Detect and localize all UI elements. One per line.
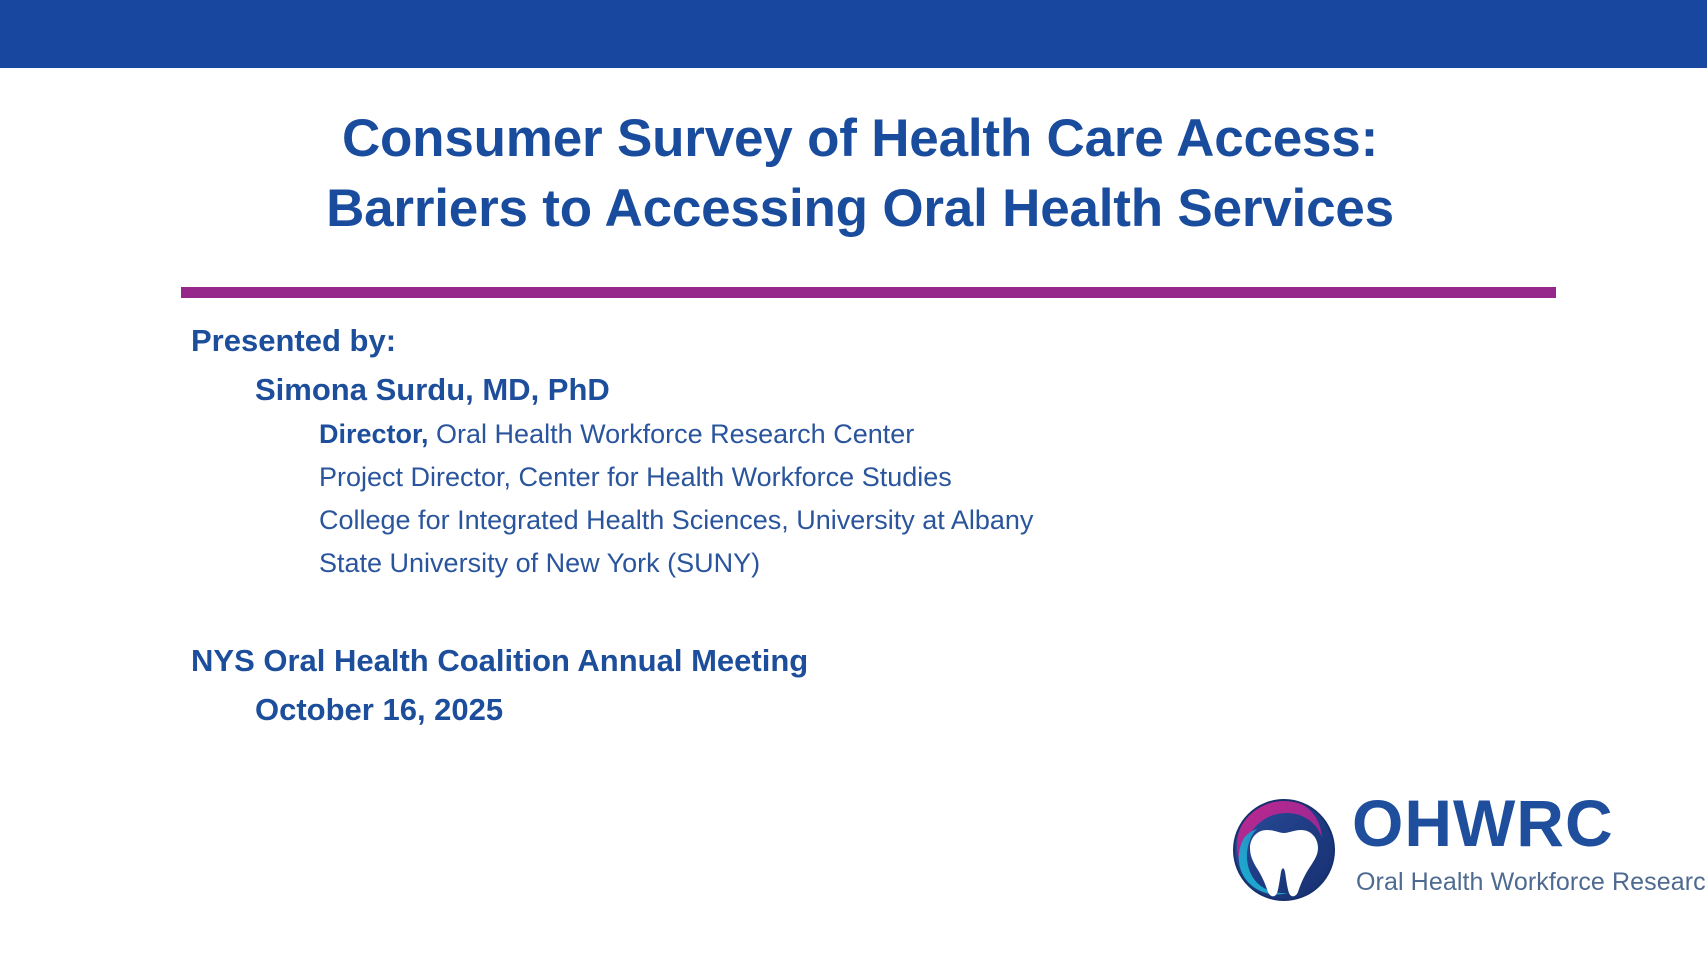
presented-by-label: Presented by: — [191, 325, 1391, 356]
tooth-in-circle-icon — [1228, 794, 1340, 906]
presenter-role-org: Oral Health Workforce Research Center — [429, 419, 915, 449]
top-accent-bar — [0, 0, 1707, 68]
presenter-role-title: Director, — [319, 419, 429, 449]
presenter-block: Presented by: Simona Surdu, MD, PhD Dire… — [191, 325, 1391, 725]
presentation-slide: Consumer Survey of Health Care Access: B… — [0, 0, 1707, 960]
presenter-affiliation-2: College for Integrated Health Sciences, … — [191, 507, 1391, 534]
logo-wordmark: OHWRC — [1352, 790, 1614, 856]
presenter-affiliation-1: Project Director, Center for Health Work… — [191, 464, 1391, 491]
presenter-role-line: Director, Oral Health Workforce Research… — [191, 421, 1391, 448]
title-divider-rule — [181, 287, 1556, 298]
block-spacer — [191, 593, 1391, 645]
presenter-affiliation-3: State University of New York (SUNY) — [191, 550, 1391, 577]
presenter-name: Simona Surdu, MD, PhD — [191, 374, 1391, 405]
event-name: NYS Oral Health Coalition Annual Meeting — [191, 645, 1391, 676]
slide-title: Consumer Survey of Health Care Access: B… — [160, 104, 1560, 244]
ohwrc-logo: OHWRC Oral Health Workforce Research Cen… — [1228, 792, 1660, 914]
event-date: October 16, 2025 — [191, 694, 1391, 725]
title-line-2: Barriers to Accessing Oral Health Servic… — [160, 174, 1560, 244]
title-line-1: Consumer Survey of Health Care Access: — [160, 104, 1560, 174]
logo-tagline: Oral Health Workforce Research Center — [1356, 870, 1707, 895]
